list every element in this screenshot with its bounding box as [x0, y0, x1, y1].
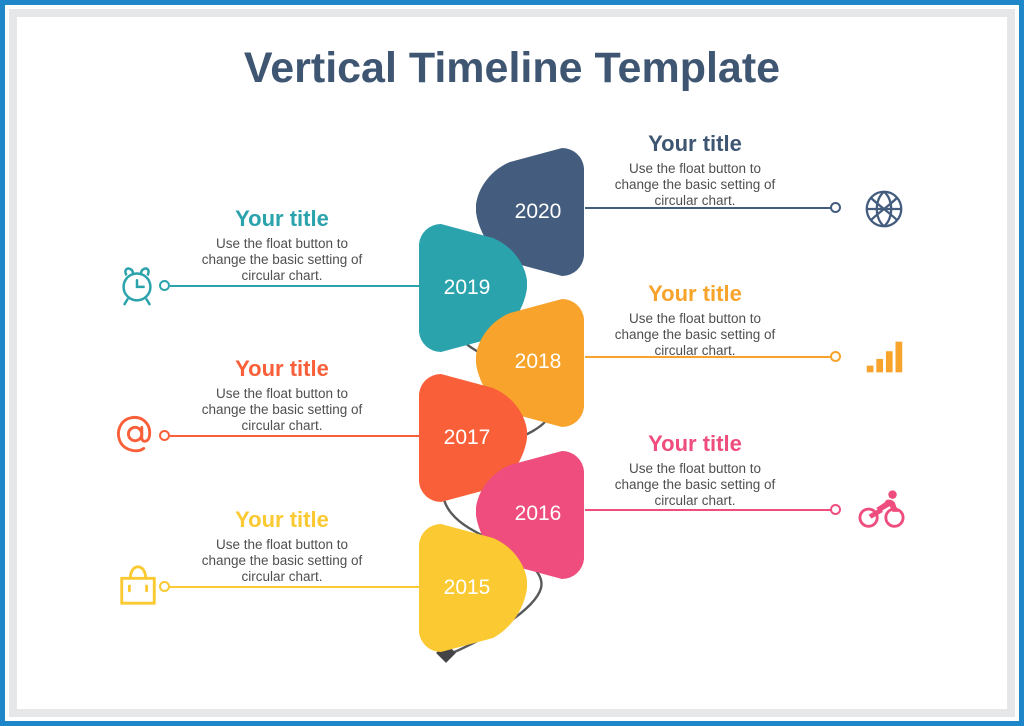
cyclist-icon[interactable]	[857, 486, 903, 532]
year-label-2015: 2015	[427, 576, 507, 600]
block-body-2016: Use the float button to change the basic…	[580, 461, 810, 509]
at-sign-icon[interactable]	[114, 412, 160, 458]
text-block-2020: Your title Use the float button to chang…	[580, 131, 810, 209]
connector-line-2019	[170, 285, 420, 287]
block-title-2019: Your title	[167, 206, 397, 232]
text-block-2015: Your title Use the float button to chang…	[167, 507, 397, 585]
connector-line-2016	[585, 509, 835, 511]
block-body-2018: Use the float button to change the basic…	[580, 311, 810, 359]
year-shape-2015[interactable]: 2015	[415, 522, 527, 659]
page-title: Vertical Timeline Template	[0, 44, 1024, 93]
text-block-2016: Your title Use the float button to chang…	[580, 431, 810, 509]
block-body-2019: Use the float button to change the basic…	[167, 236, 397, 284]
connector-line-2015	[170, 586, 420, 588]
block-title-2018: Your title	[580, 281, 810, 307]
block-body-2017: Use the float button to change the basic…	[167, 386, 397, 434]
connector-knob-2020[interactable]	[830, 202, 841, 213]
bar-chart-icon[interactable]	[861, 334, 907, 380]
text-block-2017: Your title Use the float button to chang…	[167, 356, 397, 434]
block-title-2015: Your title	[167, 507, 397, 533]
text-block-2019: Your title Use the float button to chang…	[167, 206, 397, 284]
block-title-2016: Your title	[580, 431, 810, 457]
shopping-bag-icon[interactable]	[116, 563, 162, 609]
block-title-2017: Your title	[167, 356, 397, 382]
connector-knob-2018[interactable]	[830, 351, 841, 362]
timeline-template-canvas: Vertical Timeline Template 2020 Your tit…	[0, 0, 1024, 726]
connector-knob-2016[interactable]	[830, 504, 841, 515]
basketball-icon[interactable]	[861, 186, 907, 232]
year-label-2020: 2020	[498, 200, 578, 224]
block-title-2020: Your title	[580, 131, 810, 157]
block-body-2015: Use the float button to change the basic…	[167, 537, 397, 585]
text-block-2018: Your title Use the float button to chang…	[580, 281, 810, 359]
connector-line-2017	[170, 435, 420, 437]
block-body-2020: Use the float button to change the basic…	[580, 161, 810, 209]
alarm-clock-icon[interactable]	[114, 262, 160, 308]
year-label-2018: 2018	[498, 350, 578, 374]
